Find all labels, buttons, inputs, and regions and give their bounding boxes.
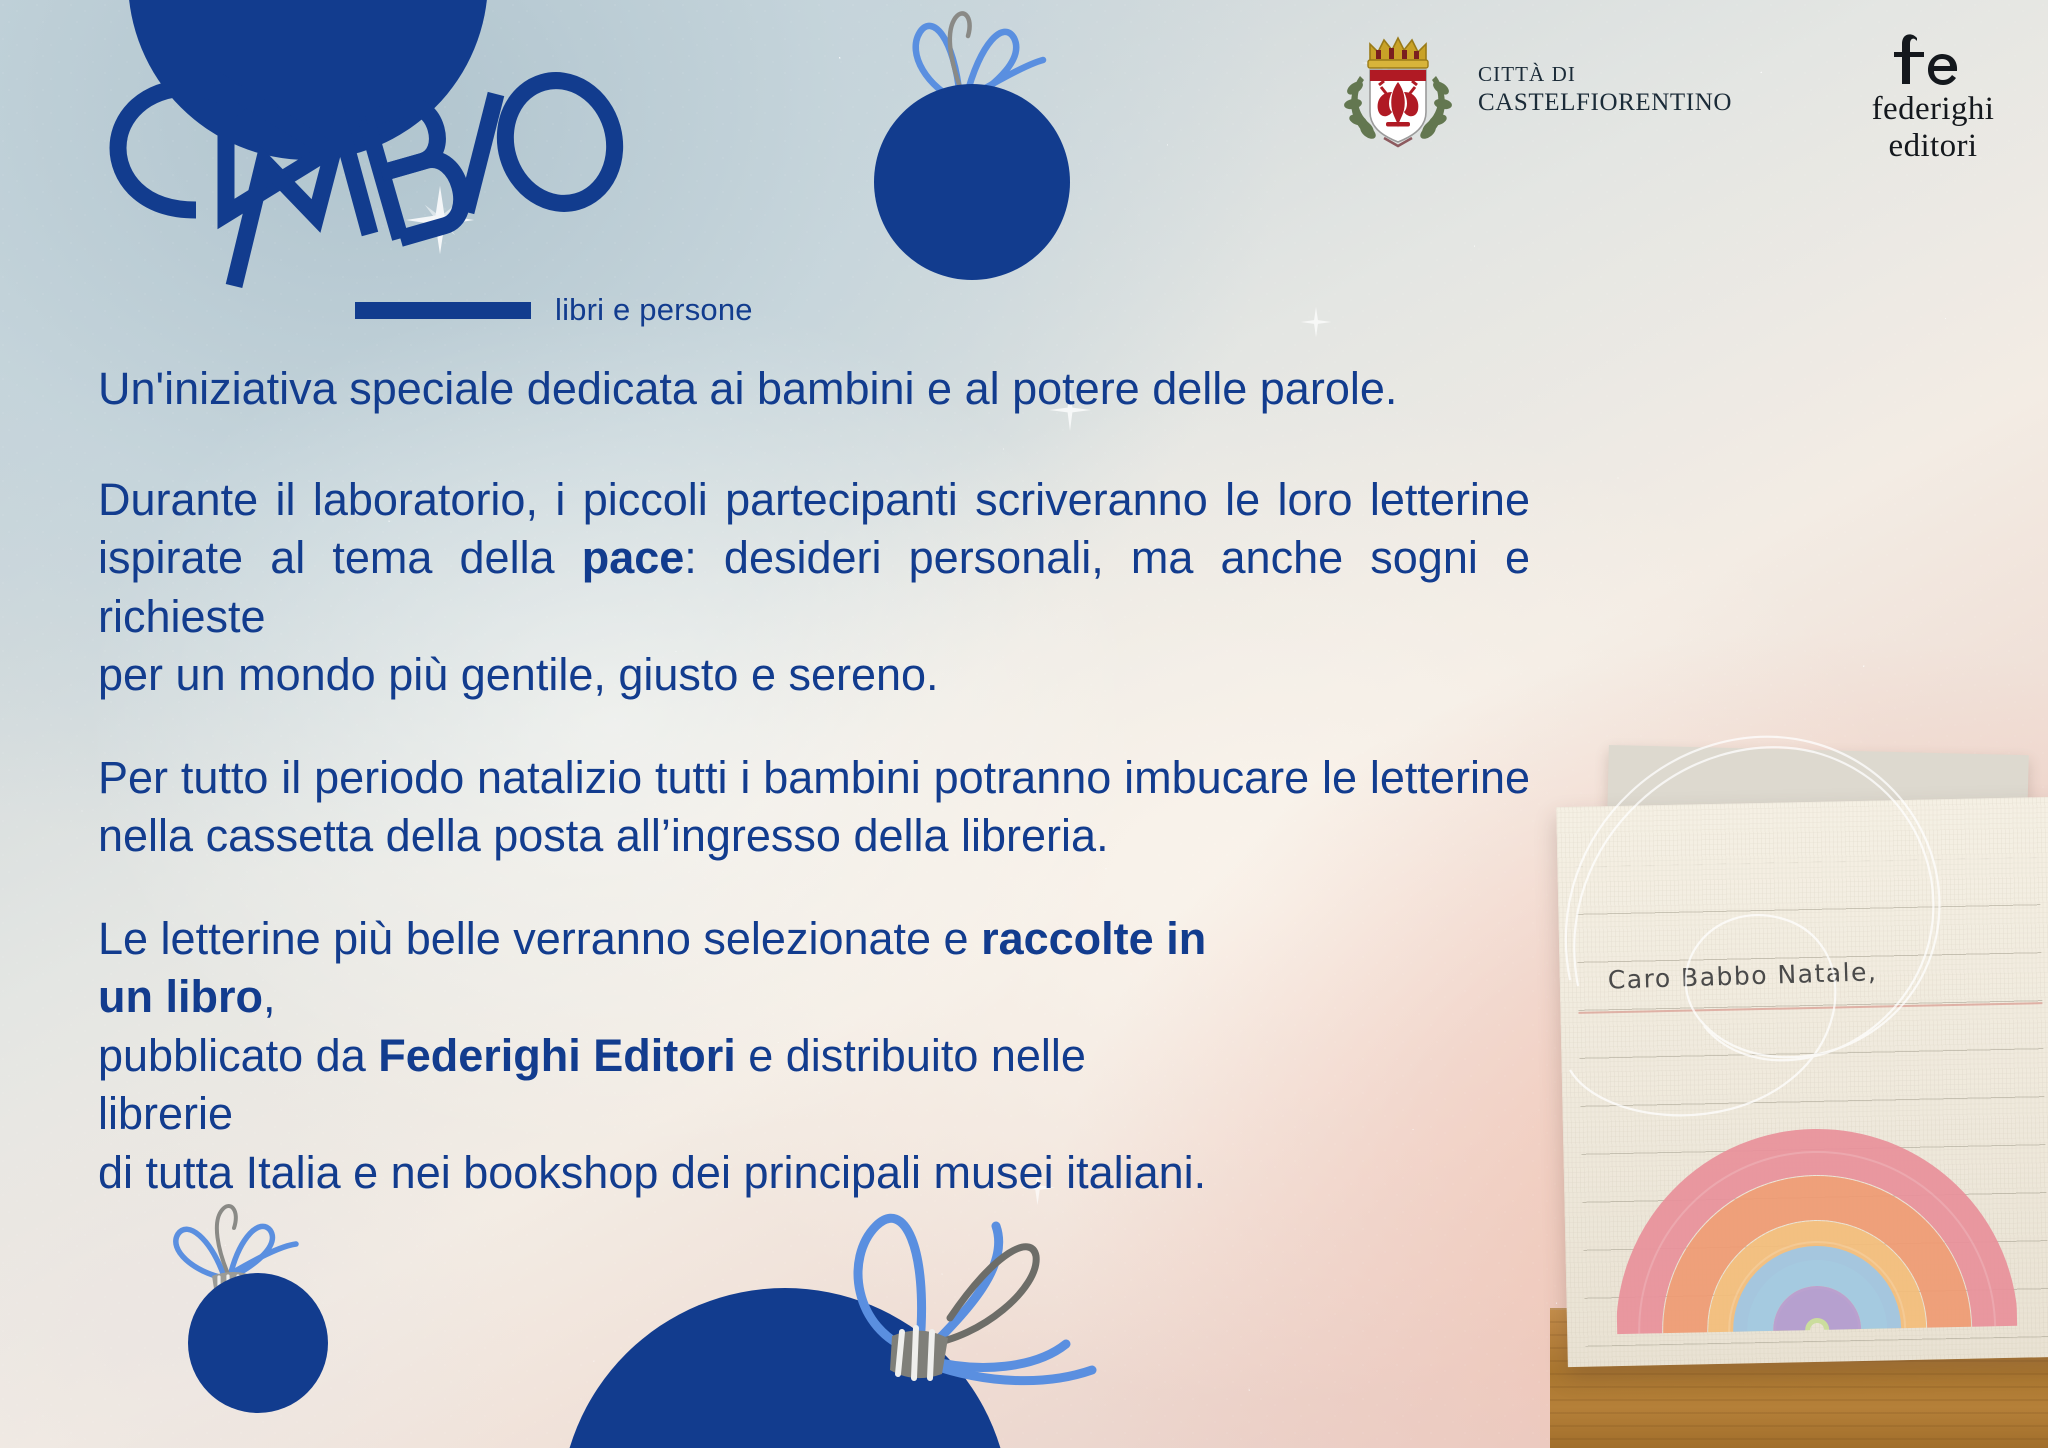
tagline-text: libri e persone (555, 292, 753, 328)
cambio-logo (78, 58, 698, 288)
letter-illustration: Caro Babbo Natale, (1560, 760, 2048, 1448)
watercolor-rainbow-icon (1612, 1088, 2017, 1346)
paragraph-4: Le letterine più belle verranno selezion… (98, 910, 1218, 1203)
emphasis-pace: pace (582, 532, 685, 583)
letter-paper-front: Caro Babbo Natale, (1556, 797, 2048, 1367)
city-line-2: CASTELFIORENTINO (1478, 88, 1732, 119)
poster-canvas: libri e persone (0, 0, 2048, 1448)
castelfiorentino-coat-of-arms-icon (1340, 30, 1456, 150)
paragraph-1: Un'iniziativa speciale dedicata ai bambi… (98, 360, 1968, 419)
federighi-editori-logo: federighi editori (1830, 28, 2036, 165)
crown-icon (1368, 38, 1428, 68)
emphasis-federighi: Federighi Editori (378, 1030, 736, 1081)
city-crest-text: CITTÀ DI CASTELFIORENTINO (1478, 62, 1732, 118)
fe-monogram-icon (1890, 28, 1976, 90)
tagline-bar (355, 302, 531, 319)
city-line-1: CITTÀ DI (1478, 62, 1732, 88)
paragraph-2: Durante il laboratorio, i piccoli partec… (98, 471, 1530, 705)
ornament-cap-icon (890, 1328, 948, 1378)
city-crest-block: CITTÀ DI CASTELFIORENTINO (1340, 30, 1732, 150)
paragraph-3: Per tutto il periodo natalizio tutti i b… (98, 749, 1530, 866)
federighi-name: federighi editori (1830, 91, 2036, 165)
logo-tagline: libri e persone (355, 292, 753, 328)
